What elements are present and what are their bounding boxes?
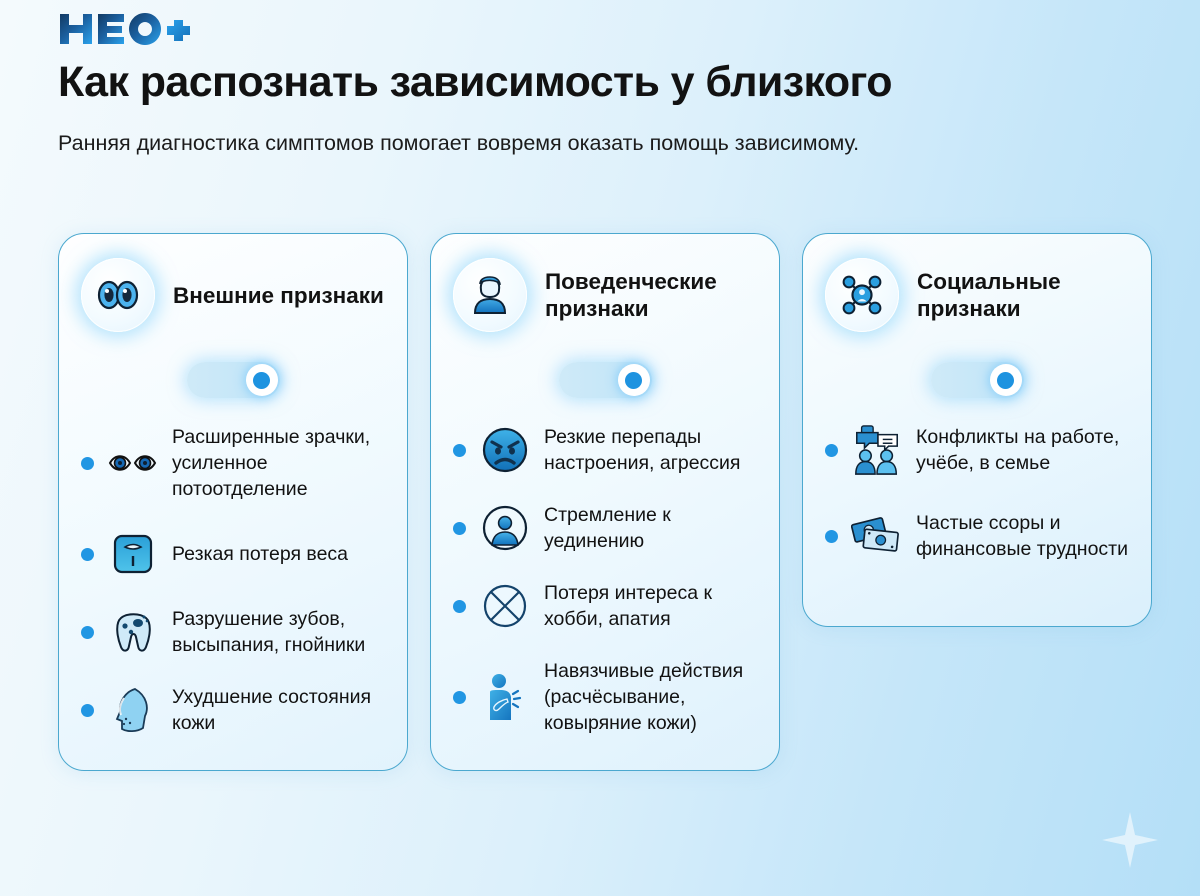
symptom-list: Резкие перепады настроения, агрессия Стр… xyxy=(453,424,757,736)
bullet-dot xyxy=(453,522,466,535)
card-title: Поведенческие признаки xyxy=(545,268,757,322)
item-label: Ухудшение состояния кожи xyxy=(172,684,385,736)
toggle-knob xyxy=(618,364,650,396)
symptom-list: Конфликты на работе, учёбе, в семье xyxy=(825,424,1129,562)
card-header: Социальные признаки xyxy=(825,258,1129,332)
list-item: Резкая потеря веса xyxy=(81,528,385,580)
scales-icon xyxy=(107,528,159,580)
item-label: Частые ссоры и финансовые трудности xyxy=(916,510,1129,562)
cards-container: Внешние признаки Расширенные xyxy=(58,233,1152,771)
symptom-list: Расширенные зрачки, усиленное потоотделе… xyxy=(81,424,385,736)
item-label: Стремление к уединению xyxy=(544,502,757,554)
person-icon xyxy=(453,258,527,332)
bullet-dot xyxy=(81,704,94,717)
heo-plus-logo-icon xyxy=(58,12,198,46)
list-item: Потеря интереса к хобби, апатия xyxy=(453,580,757,632)
brand-logo xyxy=(58,12,198,46)
card-title: Внешние признаки xyxy=(173,282,384,309)
page-title: Как распознать зависимость у близкого xyxy=(58,58,892,107)
card-header: Поведенческие признаки xyxy=(453,258,757,332)
bullet-dot xyxy=(825,530,838,543)
list-item: Частые ссоры и финансовые трудности xyxy=(825,510,1129,562)
card-header: Внешние признаки xyxy=(81,258,385,332)
card-external-signs: Внешние признаки Расширенные xyxy=(58,233,408,771)
page-subtitle: Ранняя диагностика симптомов помогает во… xyxy=(58,126,859,160)
item-label: Расширенные зрачки, усиленное потоотделе… xyxy=(172,424,385,502)
card-toggle-switch[interactable] xyxy=(187,362,280,398)
item-label: Навязчивые действия (расчёсывание, ковыр… xyxy=(544,658,757,736)
list-item: Конфликты на работе, учёбе, в семье xyxy=(825,424,1129,476)
bullet-dot xyxy=(453,600,466,613)
bullet-dot xyxy=(81,626,94,639)
item-label: Резкая потеря веса xyxy=(172,541,348,567)
list-item: Резкие перепады настроения, агрессия xyxy=(453,424,757,476)
card-social-signs: Социальные признаки xyxy=(802,233,1152,627)
list-item: Разрушение зубов, высыпания, гнойники xyxy=(81,606,385,658)
toggle-knob xyxy=(246,364,278,396)
angry-face-icon xyxy=(479,424,531,476)
list-item: Стремление к уединению xyxy=(453,502,757,554)
scratching-person-icon xyxy=(479,671,531,723)
toggle-row xyxy=(825,362,1129,398)
bullet-dot xyxy=(825,444,838,457)
card-title: Социальные признаки xyxy=(917,268,1129,322)
toggle-row xyxy=(453,362,757,398)
eyes-outline-icon xyxy=(107,437,159,489)
eyes-icon xyxy=(81,258,155,332)
card-behavioral-signs: Поведенческие признаки xyxy=(430,233,780,771)
item-label: Разрушение зубов, высыпания, гнойники xyxy=(172,606,385,658)
item-label: Конфликты на работе, учёбе, в семье xyxy=(916,424,1129,476)
network-icon xyxy=(825,258,899,332)
item-label: Потеря интереса к хобби, апатия xyxy=(544,580,757,632)
toggle-knob xyxy=(990,364,1022,396)
user-circle-icon xyxy=(479,502,531,554)
list-item: Ухудшение состояния кожи xyxy=(81,684,385,736)
card-toggle-switch[interactable] xyxy=(931,362,1024,398)
bullet-dot xyxy=(81,548,94,561)
sparkle-icon xyxy=(1102,812,1158,868)
bullet-dot xyxy=(453,444,466,457)
list-item: Расширенные зрачки, усиленное потоотделе… xyxy=(81,424,385,502)
bullet-dot xyxy=(453,691,466,704)
list-item: Навязчивые действия (расчёсывание, ковыр… xyxy=(453,658,757,736)
banknotes-icon xyxy=(851,510,903,562)
card-toggle-switch[interactable] xyxy=(559,362,652,398)
bullet-dot xyxy=(81,457,94,470)
tooth-icon xyxy=(107,606,159,658)
crossed-circle-icon xyxy=(479,580,531,632)
people-conflict-icon xyxy=(851,424,903,476)
item-label: Резкие перепады настроения, агрессия xyxy=(544,424,757,476)
toggle-row xyxy=(81,362,385,398)
face-profile-icon xyxy=(107,684,159,736)
